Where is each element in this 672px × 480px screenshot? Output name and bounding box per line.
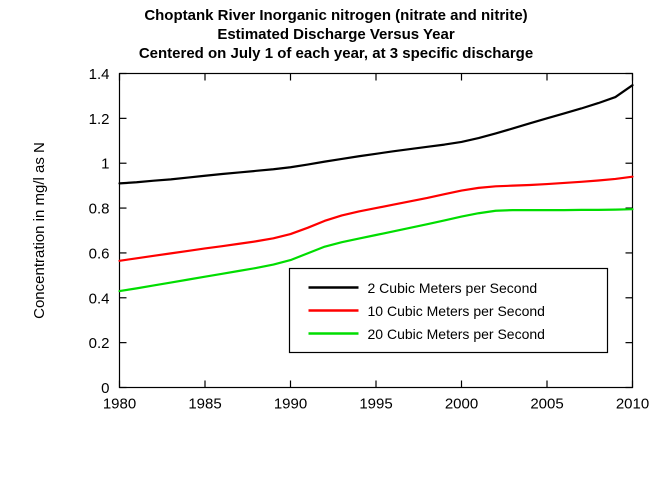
x-axis-tick-label: 2000	[445, 396, 478, 413]
x-axis-tick-label: 2010	[616, 396, 649, 413]
y-axis-tick-label: 0.8	[89, 201, 110, 218]
y-axis-tick-label: 0.2	[89, 335, 110, 352]
legend-label-2: 10 Cubic Meters per Second	[368, 303, 545, 319]
x-axis-tick-label: 2005	[530, 396, 563, 413]
y-axis-tick-label: 1	[101, 156, 109, 173]
y-axis-tick-label: 0.4	[89, 290, 110, 307]
x-axis-tick-label: 1990	[274, 396, 307, 413]
legend-label-1: 2 Cubic Meters per Second	[368, 280, 538, 296]
y-axis-tick-label: 0	[101, 380, 109, 397]
x-axis-tick-label: 1985	[188, 396, 221, 413]
legend-label-3: 20 Cubic Meters per Second	[368, 326, 545, 342]
plot-svg: 00.20.40.60.811.21.419801985199019952000…	[0, 0, 672, 480]
series-line-2	[120, 177, 633, 261]
y-axis-title: Concentration in mg/l as N	[31, 142, 48, 319]
chart-container: Choptank River Inorganic nitrogen (nitra…	[0, 0, 672, 480]
series-line-1	[120, 85, 633, 183]
y-axis-tick-label: 0.6	[89, 245, 110, 262]
x-axis-tick-label: 1995	[359, 396, 392, 413]
y-axis-tick-label: 1.2	[89, 111, 110, 128]
x-axis-tick-label: 1980	[103, 396, 136, 413]
y-axis-tick-label: 1.4	[89, 66, 110, 83]
